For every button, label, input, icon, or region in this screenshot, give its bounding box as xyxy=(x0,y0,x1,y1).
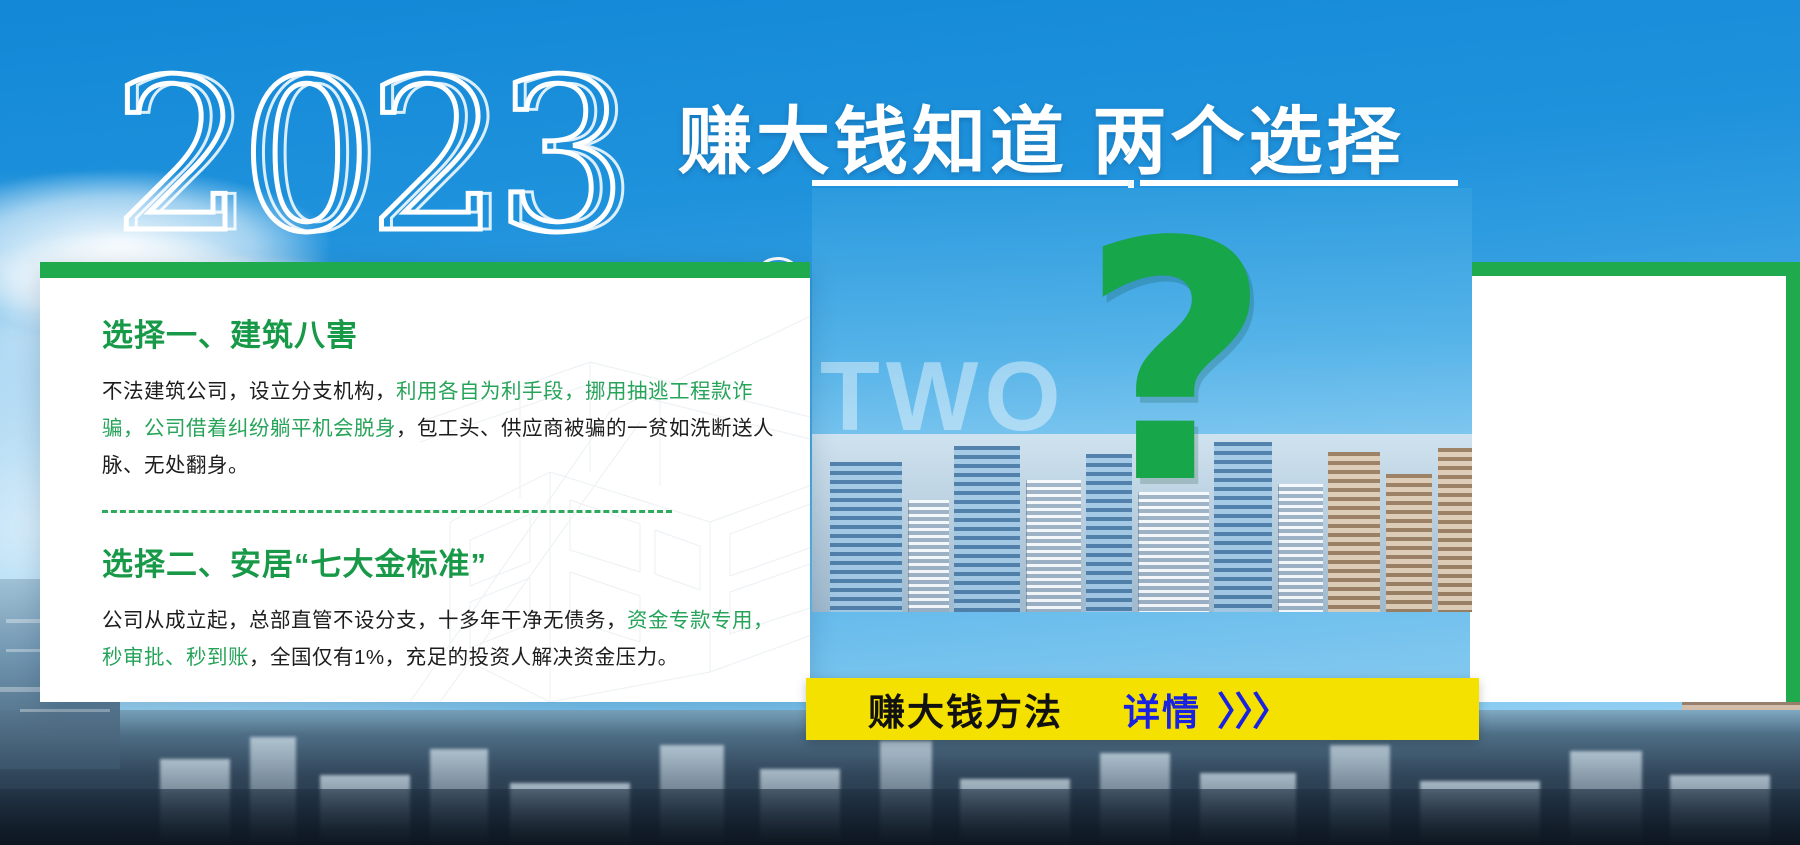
page-title: 赚大钱知道 两个选择 xyxy=(678,82,1405,189)
cta-detail-link[interactable]: 详情 xyxy=(1123,682,1201,736)
right-white-panel xyxy=(1470,276,1786,702)
section-one: 选择一、建筑八害 不法建筑公司，设立分支机构，利用各自为利手段，挪用抽逃工程款诈… xyxy=(102,310,776,484)
cta-main-label: 赚大钱方法 xyxy=(868,682,1063,736)
section-one-part-1: 不法建筑公司，设立分支机构， xyxy=(102,380,396,403)
info-card: 选择一、建筑八害 不法建筑公司，设立分支机构，利用各自为利手段，挪用抽逃工程款诈… xyxy=(40,262,810,702)
section-one-body: 不法建筑公司，设立分支机构，利用各自为利手段，挪用抽逃工程款诈骗，公司借着纠纷躺… xyxy=(102,373,776,484)
section-two-part-3: ，全国仅有1%，充足的投资人解决资金压力。 xyxy=(249,646,679,669)
section-two-body: 公司从成立起，总部直管不设分支，十多年干净无债务，资金专款专用，秒审批、秒到账，… xyxy=(102,602,776,676)
section-two-title: 选择二、安居“七大金标准” xyxy=(102,539,776,584)
question-mark-icon: ? xyxy=(1080,214,1271,514)
chevron-right-icon: 〉〉〉 xyxy=(1217,681,1289,737)
year-number-ghost: 2023 xyxy=(122,62,632,252)
section-two-part-1: 公司从成立起，总部直管不设分支，十多年干净无债务， xyxy=(102,609,627,632)
card-accent-bar xyxy=(40,262,810,278)
headline-rule-right xyxy=(1140,180,1458,186)
section-divider xyxy=(102,510,672,513)
green-accent-side xyxy=(1786,262,1800,702)
promo-banner: 2023 2023 年 赚大钱知道 两个选择 TWO CHOICES xyxy=(0,0,1800,845)
section-two: 选择二、安居“七大金标准” 公司从成立起，总部直管不设分支，十多年干净无债务，资… xyxy=(102,539,776,676)
cta-banner[interactable]: 赚大钱方法 详情 〉〉〉 xyxy=(806,678,1479,740)
choices-panel: TWO CHOICES ? xyxy=(812,188,1472,612)
year-logo: 2023 2023 年 xyxy=(112,62,712,257)
card-content: 选择一、建筑八害 不法建筑公司，设立分支机构，利用各自为利手段，挪用抽逃工程款诈… xyxy=(102,310,776,676)
water-reflection xyxy=(0,789,1800,845)
green-accent-top xyxy=(1470,262,1800,276)
headline-rule-left xyxy=(812,180,1128,186)
section-one-title: 选择一、建筑八害 xyxy=(102,310,776,355)
